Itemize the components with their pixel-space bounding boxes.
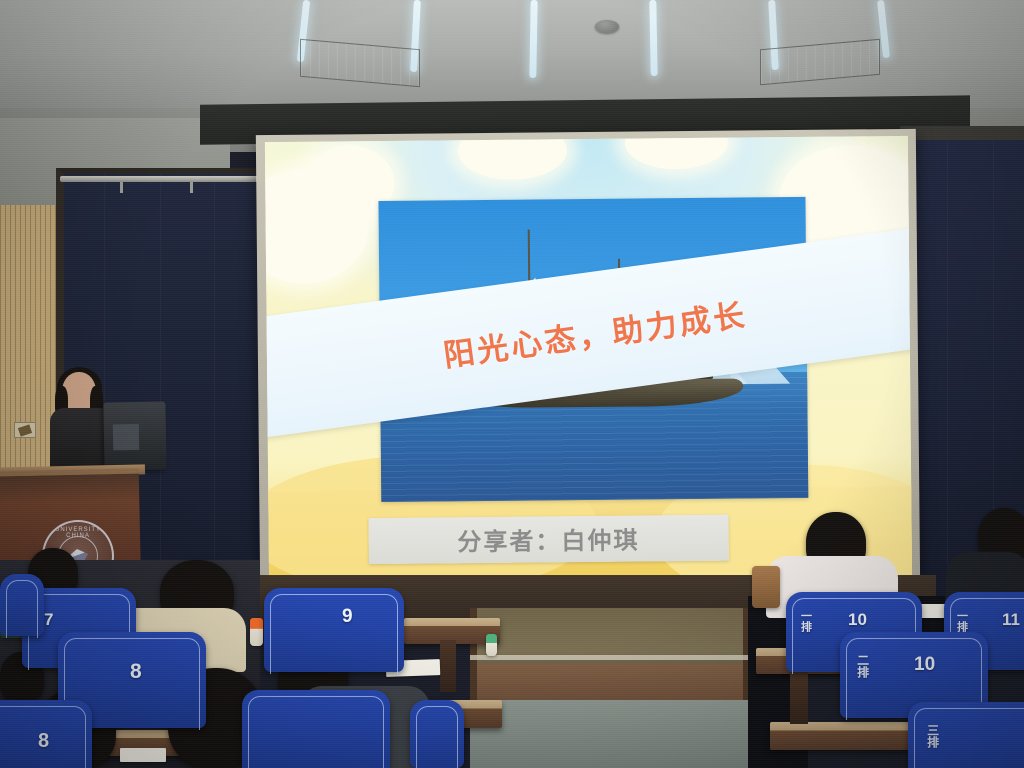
smoke-detector-icon: [595, 20, 619, 33]
row-label: 一排: [800, 610, 812, 632]
seat-number-label: 11: [1002, 610, 1020, 630]
seat-number-label: 10: [914, 654, 935, 676]
seat-number-label: 9: [342, 606, 353, 628]
ceiling-light-tube: [649, 0, 657, 76]
chair[interactable]: [410, 700, 464, 768]
lecture-hall-photo: 阳光心态，助力成长 分享者：白仲琪 UNIVERSITY CHINA: [0, 0, 1024, 768]
seat-number-label: 8: [130, 660, 142, 684]
slide: 阳光心态，助力成长 分享者：白仲琪: [265, 136, 912, 585]
curtain-rail: [60, 176, 286, 182]
slide-presenter-box: 分享者：白仲琪: [368, 514, 729, 564]
ceiling-vent: [760, 39, 880, 85]
chair-seat-8-lower[interactable]: 8: [0, 700, 92, 768]
seal-text: UNIVERSITY CHINA: [44, 527, 112, 539]
slide-title-text: 阳光心态，助力成长: [440, 290, 749, 376]
row-label: 三排: [926, 724, 939, 748]
row-label: 二排: [856, 654, 869, 678]
wall-switch[interactable]: [14, 422, 36, 438]
ceiling-light-tube: [529, 0, 537, 78]
water-bottle: [486, 634, 497, 656]
paper-sheet: [120, 748, 166, 762]
seat-number-label: 7: [44, 610, 53, 630]
seat-number-label: 10: [848, 610, 867, 630]
stage-lower-wall: [470, 700, 750, 768]
stage-step-edge: [470, 655, 750, 660]
chair-row3[interactable]: 三排: [908, 702, 1024, 768]
shoulder-bag: [752, 566, 780, 608]
ceiling-vent: [300, 39, 420, 87]
chair[interactable]: [0, 574, 44, 636]
podium-monitor: [103, 401, 166, 470]
slide-presenter-text: 分享者：白仲琪: [457, 521, 639, 558]
water-bottle: [250, 618, 263, 646]
row-label: 一排: [956, 610, 968, 632]
desk-leg: [790, 670, 808, 724]
desk-leg: [440, 640, 456, 692]
stage-step-block: [470, 608, 750, 700]
chair-seat-9[interactable]: 9: [264, 588, 404, 672]
chair[interactable]: [242, 690, 390, 768]
seat-number-label: 8: [38, 730, 49, 753]
